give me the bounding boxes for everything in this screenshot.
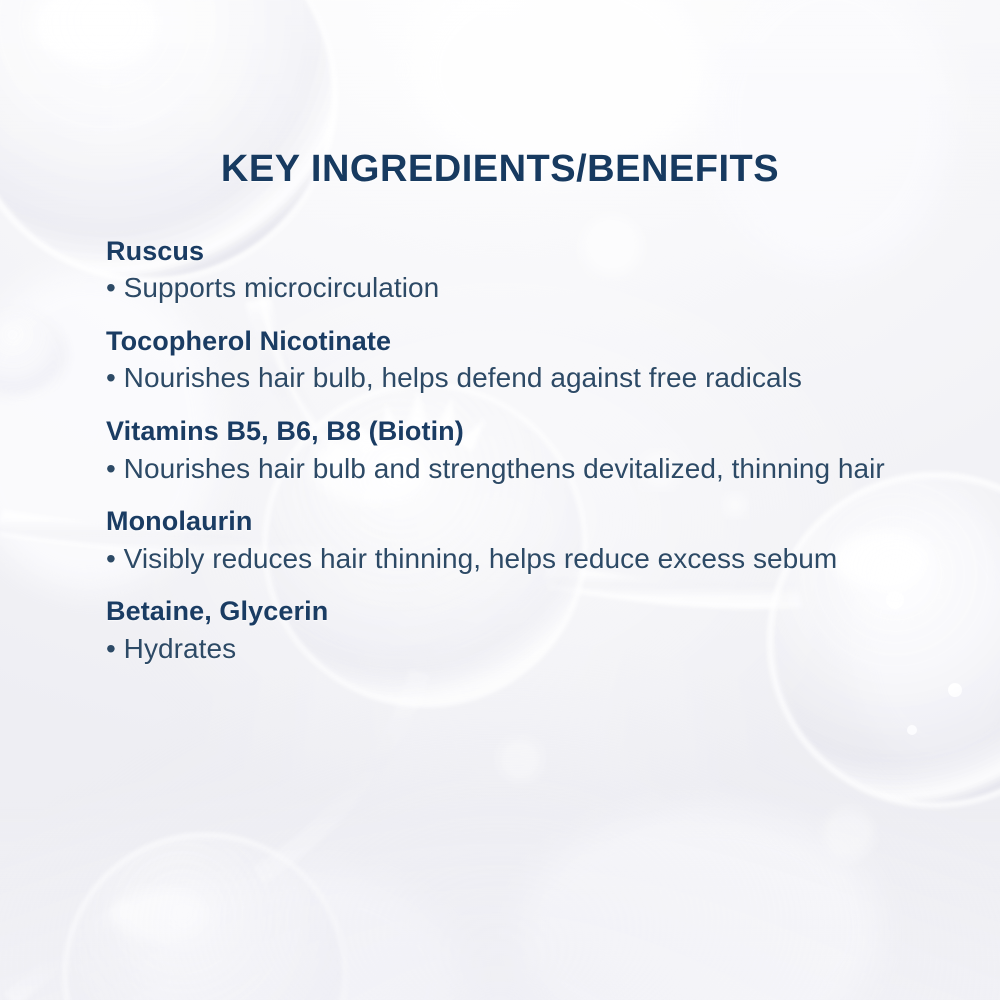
ingredient-name: Tocopherol Nicotinate — [106, 325, 906, 358]
ingredient-benefits-poster: KEY INGREDIENTS/BENEFITS Ruscus • Suppor… — [0, 0, 1000, 1000]
poster-content: KEY INGREDIENTS/BENEFITS Ruscus • Suppor… — [0, 0, 1000, 1000]
ingredient-entry: Betaine, Glycerin • Hydrates — [106, 595, 906, 666]
ingredient-benefit: • Nourishes hair bulb and strengthens de… — [106, 451, 906, 487]
ingredient-name: Ruscus — [106, 235, 906, 268]
page-title: KEY INGREDIENTS/BENEFITS — [0, 148, 1000, 191]
ingredient-benefit: • Supports microcirculation — [106, 270, 906, 306]
ingredient-name: Betaine, Glycerin — [106, 595, 906, 628]
ingredient-entry: Monolaurin • Visibly reduces hair thinni… — [106, 505, 906, 576]
ingredient-list: Ruscus • Supports microcirculation Tocop… — [106, 235, 906, 666]
ingredient-benefit: • Nourishes hair bulb, helps defend agai… — [106, 360, 906, 396]
ingredient-benefit: • Visibly reduces hair thinning, helps r… — [106, 541, 906, 577]
ingredient-entry: Vitamins B5, B6, B8 (Biotin) • Nourishes… — [106, 415, 906, 486]
ingredient-name: Vitamins B5, B6, B8 (Biotin) — [106, 415, 906, 448]
ingredient-name: Monolaurin — [106, 505, 906, 538]
ingredient-benefit: • Hydrates — [106, 631, 906, 667]
ingredient-entry: Tocopherol Nicotinate • Nourishes hair b… — [106, 325, 906, 396]
ingredient-entry: Ruscus • Supports microcirculation — [106, 235, 906, 306]
